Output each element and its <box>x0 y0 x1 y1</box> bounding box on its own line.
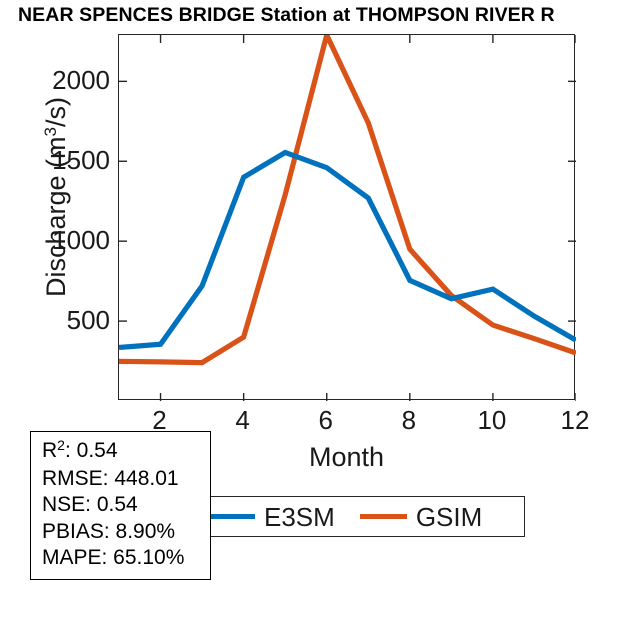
x-tick-label: 2 <box>130 407 190 433</box>
chart-legend: E3SM GSIM <box>196 496 525 537</box>
stat-r2-exponent: 2 <box>57 437 65 453</box>
stat-r2-label: R <box>42 439 57 462</box>
y-axis-label: Discharge (m3/s) <box>41 0 75 407</box>
y-axis-label-text: Discharge (m <box>41 136 71 297</box>
y-axis-label-tail: /s) <box>41 97 71 127</box>
stat-r2-value: : 0.54 <box>65 439 118 462</box>
stat-line-mape: MAPE: 65.10% <box>42 545 210 572</box>
stat-line-rmse: RMSE: 448.01 <box>42 466 210 493</box>
stat-line-pbias: PBIAS: 8.90% <box>42 519 210 546</box>
x-tick-label: 10 <box>462 407 522 433</box>
legend-entry-e3sm[interactable]: E3SM <box>208 497 335 536</box>
stat-line-nse: NSE: 0.54 <box>42 492 210 519</box>
statistics-box: R2: 0.54 RMSE: 448.01 NSE: 0.54 PBIAS: 8… <box>30 431 211 580</box>
y-axis-label-exponent: 3 <box>41 127 60 136</box>
x-tick-label: 8 <box>379 407 439 433</box>
legend-swatch-e3sm <box>208 514 255 520</box>
legend-entry-gsim[interactable]: GSIM <box>360 497 482 536</box>
x-tick-label: 12 <box>545 407 605 433</box>
x-tick-label: 4 <box>213 407 273 433</box>
legend-label-gsim: GSIM <box>416 504 482 530</box>
chart-figure: NEAR SPENCES BRIDGE Station at THOMPSON … <box>0 0 625 625</box>
legend-label-e3sm: E3SM <box>264 504 335 530</box>
legend-swatch-gsim <box>360 514 407 520</box>
stat-line-r2: R2: 0.54 <box>42 438 210 466</box>
x-tick-label: 6 <box>296 407 356 433</box>
